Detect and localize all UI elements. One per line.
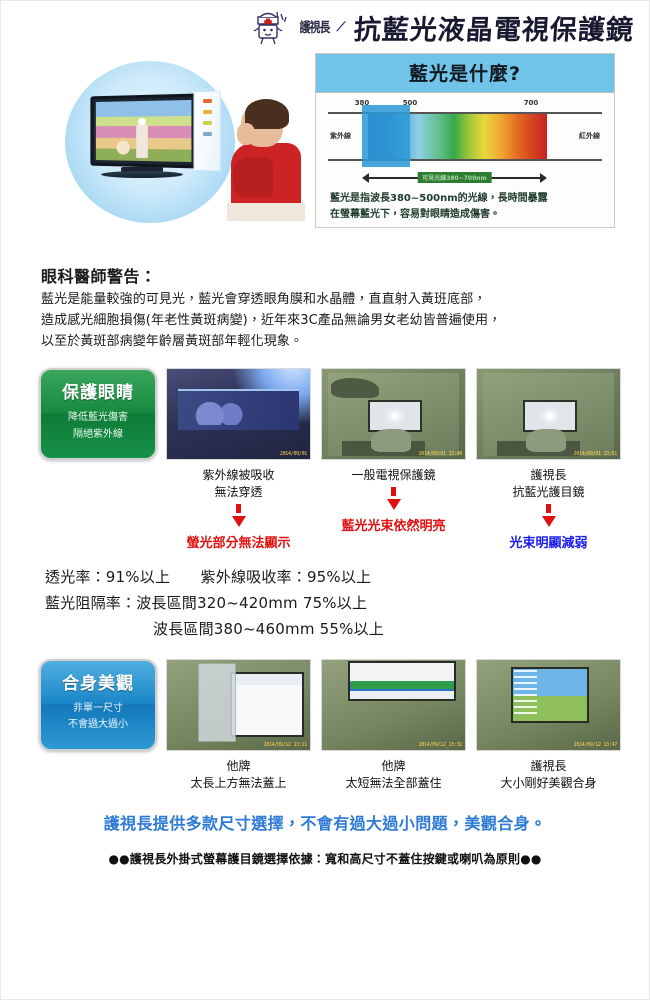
- spec-transmittance-uv: 透光率：91%以上 紫外線吸收率：95%以上: [45, 565, 649, 591]
- oversized-panel: [198, 663, 235, 742]
- photo-caption: 護視長 大小剛好美觀合身: [500, 758, 596, 792]
- child-hand: [237, 123, 255, 145]
- nurse-mascot-logo-icon: [246, 8, 292, 46]
- photo-column: 2014/09/12 13:47 護視長 大小剛好美觀合身: [476, 659, 621, 792]
- photo-timestamp: 2014/09/01: [280, 451, 307, 457]
- photo-timestamp: 2014/09/12 13:47: [574, 742, 617, 748]
- second-hand: [371, 429, 411, 452]
- spectrum-chart: 380 500 700 紫外線 紅外線 可見光線380~700nm: [328, 99, 602, 187]
- screen-person: [136, 124, 148, 158]
- page-header: 護視長 ⟋ 抗藍光液晶電視保護鏡: [1, 1, 649, 53]
- bluelight-caption: 藍光是指波長380~500nm的光線，長時間暴露 在螢幕藍光下，容易對眼睛造成傷…: [316, 187, 614, 222]
- badge-protect-eyes-sub1: 降低藍光傷害: [41, 410, 155, 427]
- badge-fit-beauty-sub1: 非單一尺寸: [41, 701, 155, 718]
- photo-caption: 護視長 抗藍光護目鏡: [512, 467, 584, 501]
- spec-bluelight-block-2: 波長區間380~460mm 55%以上: [45, 617, 649, 643]
- eye-protection-photo-row: 2014/09/01 紫外線被吸收 無法穿透 螢光部分無法顯示 2014/09/…: [166, 368, 621, 551]
- hero-section: 藍光是什麼? 380 500 700 紫外線 紅外線 可見光線380~700nm: [1, 53, 649, 253]
- visible-range-label: 可見光線380~700nm: [417, 172, 492, 183]
- badge-protect-eyes: 保護眼睛 降低藍光傷害 隔絕紫外線: [39, 368, 157, 460]
- photo-column: 2014/09/01 13:48 一般電視保護鏡 藍光光束依然明亮: [321, 368, 466, 551]
- photo-timestamp: 2014/09/12 13:21: [264, 742, 307, 748]
- television-image: [90, 94, 197, 169]
- photo-timestamp: 2014/09/01 13:51: [574, 451, 617, 457]
- bluelight-highlight-box: [362, 105, 410, 167]
- photo-caption: 他牌 太短無法全部蓋住: [345, 758, 441, 792]
- photo-column: 2014/09/12 13:21 他牌 太長上方無法蓋上: [166, 659, 311, 792]
- footer-note-text: ●●護視長外掛式螢幕護目鏡選擇依據：寬和高尺寸不蓋住按鍵或喇叭為原則●●: [1, 834, 649, 867]
- desk: [227, 203, 305, 221]
- green-address-bar: [351, 681, 454, 689]
- sparkle-icon: ⟋: [336, 20, 345, 35]
- monitor-with-beam: [368, 400, 422, 432]
- page-title: 抗藍光液晶電視保護鏡: [352, 8, 635, 47]
- photo-result-text: 藍光光束依然明亮: [341, 515, 445, 534]
- tv-screen: [96, 100, 192, 162]
- bluelight-panel-title: 藍光是什麼?: [316, 54, 614, 93]
- down-arrow-icon: [387, 499, 401, 510]
- feature-perfect-fit: 合身美觀 非單一尺寸 不會過大過小 2014/09/12 13:21 他牌 太長…: [1, 643, 649, 792]
- bluelight-info-panel: 藍光是什麼? 380 500 700 紫外線 紅外線 可見光線380~700nm: [315, 53, 615, 228]
- warning-line-2: 造成感光細胞損傷(年老性黃斑病變)，近年來3C產品無論男女老幼皆普遍使用，: [41, 310, 615, 331]
- warning-heading: 眼科醫師警告：: [41, 263, 615, 287]
- monitor-with-beam: [523, 400, 577, 432]
- feature-eye-protection: 保護眼睛 降低藍光傷害 隔絕紫外線 2014/09/01 紫外線被吸收 無法穿透…: [1, 352, 649, 551]
- product-detail-page: 護視長 ⟋ 抗藍光液晶電視保護鏡: [0, 0, 650, 1000]
- badge-protect-eyes-sub2: 隔絕紫外線: [41, 427, 155, 444]
- bluelight-caption-line2: 在螢幕藍光下，容易對眼睛造成傷害。: [330, 207, 600, 223]
- down-arrow-icon: [232, 516, 246, 527]
- monitor-screen: [230, 672, 304, 737]
- arrow-right-icon: [540, 173, 547, 183]
- photo-column: 2014/09/12_13:31 他牌 太短無法全部蓋住: [321, 659, 466, 792]
- hero-illustration: [35, 53, 307, 233]
- desktop-icons: [514, 670, 537, 717]
- badge-protect-eyes-title: 保護眼睛: [41, 370, 155, 403]
- spec-bluelight-block-1: 藍光阻隔率：波長區間320~420mm 75%以上: [45, 591, 649, 617]
- protector-panel: [193, 91, 220, 172]
- badge-fit-beauty-sub2: 不會過大過小: [41, 717, 155, 734]
- arrow-stem: [546, 504, 551, 513]
- arrow-stem: [236, 504, 241, 513]
- second-hand: [526, 429, 566, 452]
- footer-highlight-text: 護視長提供多款尺寸選擇，不會有過大過小問題，美觀合身。: [1, 792, 649, 834]
- photo-uv-banknote: 2014/09/01: [166, 368, 311, 460]
- photo-timestamp: 2014/09/12_13:31: [419, 742, 462, 748]
- arrow-stem: [391, 487, 396, 496]
- ir-label: 紅外線: [579, 131, 600, 141]
- warning-line-1: 藍光是能量較強的可見光，藍光會穿透眼角膜和水晶體，直直射入黃班底部，: [41, 289, 615, 310]
- photo-caption: 他牌 太長上方無法蓋上: [190, 758, 286, 792]
- visible-range-arrow: 可見光線380~700nm: [362, 173, 547, 183]
- specification-list: 透光率：91%以上 紫外線吸收率：95%以上 藍光阻隔率：波長區間320~420…: [1, 551, 649, 642]
- photo-column: 2014/09/01 紫外線被吸收 無法穿透 螢光部分無法顯示: [166, 368, 311, 551]
- badge-fit-beauty-subtitles: 非單一尺寸 不會過大過小: [41, 694, 155, 734]
- brand-word: 護視長: [299, 17, 329, 37]
- photo-hushichang-perfect-fit: 2014/09/12 13:47: [476, 659, 621, 751]
- photo-result-text: 螢光部分無法顯示: [186, 532, 290, 551]
- warning-line-3: 以至於黃斑部病變年齡層黃斑部年輕化現象。: [41, 331, 615, 352]
- badge-protect-eyes-subtitles: 降低藍光傷害 隔絕紫外線: [41, 403, 155, 443]
- uv-label: 紫外線: [330, 131, 351, 141]
- child-arm: [233, 157, 273, 197]
- tv-base: [101, 171, 183, 178]
- bluelight-caption-line1: 藍光是指波長380~500nm的光線，長時間暴露: [330, 191, 600, 207]
- fit-photo-row: 2014/09/12 13:21 他牌 太長上方無法蓋上 2014/09/12_…: [166, 659, 621, 792]
- photo-column: 2014/09/01 13:51 護視長 抗藍光護目鏡 光束明顯減弱: [476, 368, 621, 551]
- tick-700: 700: [524, 99, 539, 107]
- photo-caption: 紫外線被吸收 無法穿透: [202, 467, 274, 501]
- photo-hushichang-protector: 2014/09/01 13:51: [476, 368, 621, 460]
- banknote-figures: [190, 402, 256, 425]
- photo-general-protector: 2014/09/01 13:48: [321, 368, 466, 460]
- child-viewer-image: [231, 103, 301, 221]
- hand: [331, 378, 380, 398]
- badge-fit-beauty-title: 合身美觀: [41, 661, 155, 694]
- photo-timestamp: 2014/09/01 13:48: [419, 451, 462, 457]
- photo-other-brand-too-short: 2014/09/12_13:31: [321, 659, 466, 751]
- doctor-warning-block: 眼科醫師警告： 藍光是能量較強的可見光，藍光會穿透眼角膜和水晶體，直直射入黃班底…: [1, 253, 649, 352]
- badge-fit-beauty: 合身美觀 非單一尺寸 不會過大過小: [39, 659, 157, 751]
- photo-other-brand-too-long: 2014/09/12 13:21: [166, 659, 311, 751]
- down-arrow-icon: [542, 516, 556, 527]
- photo-result-text: 光束明顯減弱: [509, 532, 587, 551]
- photo-caption: 一般電視保護鏡: [351, 467, 435, 484]
